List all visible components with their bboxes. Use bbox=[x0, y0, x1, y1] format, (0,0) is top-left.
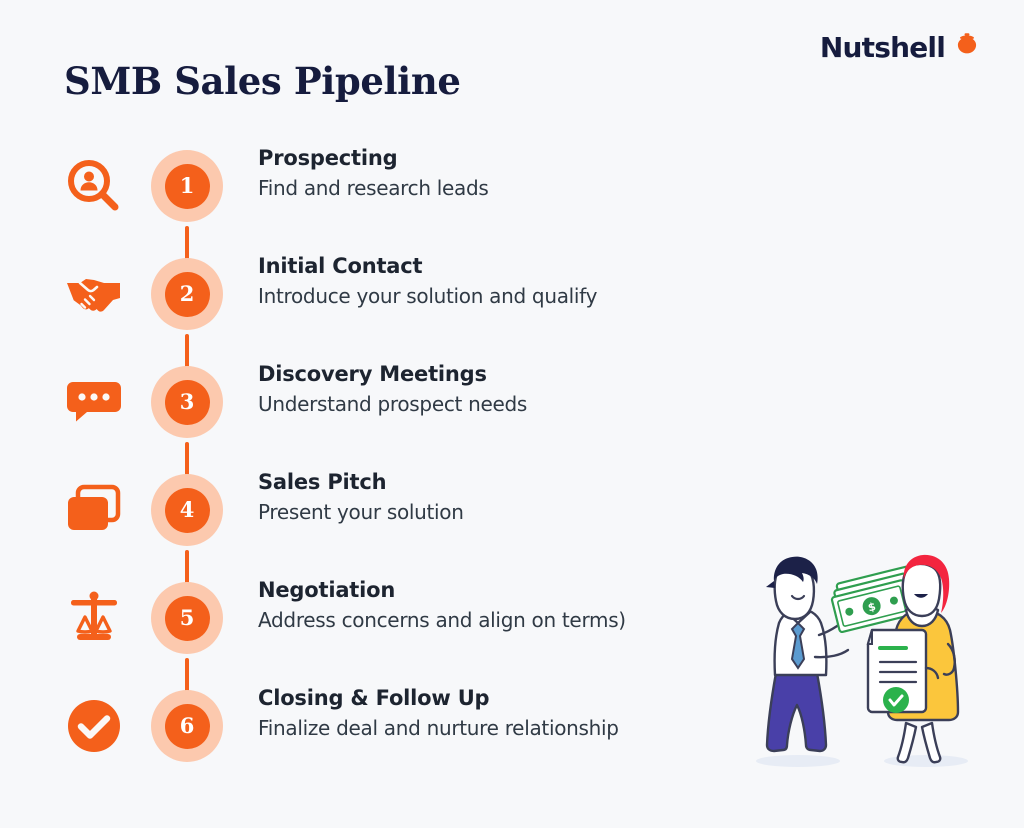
pipeline-step[interactable]: 3 Discovery Meetings Understand prospect… bbox=[0, 352, 700, 460]
step-text-block: Discovery Meetings Understand prospect n… bbox=[258, 360, 698, 420]
step-text-block: Sales Pitch Present your solution bbox=[258, 468, 698, 528]
pipeline-step[interactable]: 4 Sales Pitch Present your solution bbox=[0, 460, 700, 568]
step-description: Finalize deal and nurture relationship bbox=[258, 712, 698, 744]
step-number: 4 bbox=[165, 488, 210, 533]
step-badge: 1 bbox=[151, 150, 223, 222]
deal-handoff-illustration: $ bbox=[716, 548, 1006, 784]
step-text-block: Initial Contact Introduce your solution … bbox=[258, 252, 698, 312]
step-number: 6 bbox=[165, 704, 210, 749]
step-title: Initial Contact bbox=[258, 252, 698, 280]
step-description: Present your solution bbox=[258, 496, 698, 528]
pipeline-step[interactable]: 6 Closing & Follow Up Finalize deal and … bbox=[0, 676, 700, 784]
chat-bubble-dots-icon bbox=[62, 370, 126, 434]
handshake-icon bbox=[62, 262, 126, 326]
step-number: 2 bbox=[165, 272, 210, 317]
step-badge: 6 bbox=[151, 690, 223, 762]
check-circle-icon bbox=[62, 694, 126, 758]
step-number: 1 bbox=[165, 164, 210, 209]
step-badge: 4 bbox=[151, 474, 223, 546]
step-text-block: Prospecting Find and research leads bbox=[258, 144, 698, 204]
stacked-cards-icon bbox=[62, 478, 126, 542]
step-number: 5 bbox=[165, 596, 210, 641]
step-title: Negotiation bbox=[258, 576, 698, 604]
step-title: Prospecting bbox=[258, 144, 698, 172]
step-badge: 3 bbox=[151, 366, 223, 438]
pipeline-step[interactable]: 2 Initial Contact Introduce your solutio… bbox=[0, 244, 700, 352]
step-description: Address concerns and align on terms) bbox=[258, 604, 698, 636]
step-title: Discovery Meetings bbox=[258, 360, 698, 388]
step-text-block: Negotiation Address concerns and align o… bbox=[258, 576, 698, 636]
step-badge: 5 bbox=[151, 582, 223, 654]
step-description: Introduce your solution and qualify bbox=[258, 280, 698, 312]
infographic-canvas: SMB Sales Pipeline Nutshell bbox=[0, 0, 1024, 828]
magnifier-person-icon bbox=[62, 154, 126, 218]
step-text-block: Closing & Follow Up Finalize deal and nu… bbox=[258, 684, 698, 744]
step-description: Understand prospect needs bbox=[258, 388, 698, 420]
step-badge: 2 bbox=[151, 258, 223, 330]
step-title: Closing & Follow Up bbox=[258, 684, 698, 712]
pipeline-step[interactable]: 1 Prospecting Find and research leads bbox=[0, 136, 700, 244]
step-number: 3 bbox=[165, 380, 210, 425]
step-title: Sales Pitch bbox=[258, 468, 698, 496]
step-description: Find and research leads bbox=[258, 172, 698, 204]
pipeline-step[interactable]: 5 Negotiation Address concerns and align… bbox=[0, 568, 700, 676]
balance-scales-icon bbox=[62, 586, 126, 650]
